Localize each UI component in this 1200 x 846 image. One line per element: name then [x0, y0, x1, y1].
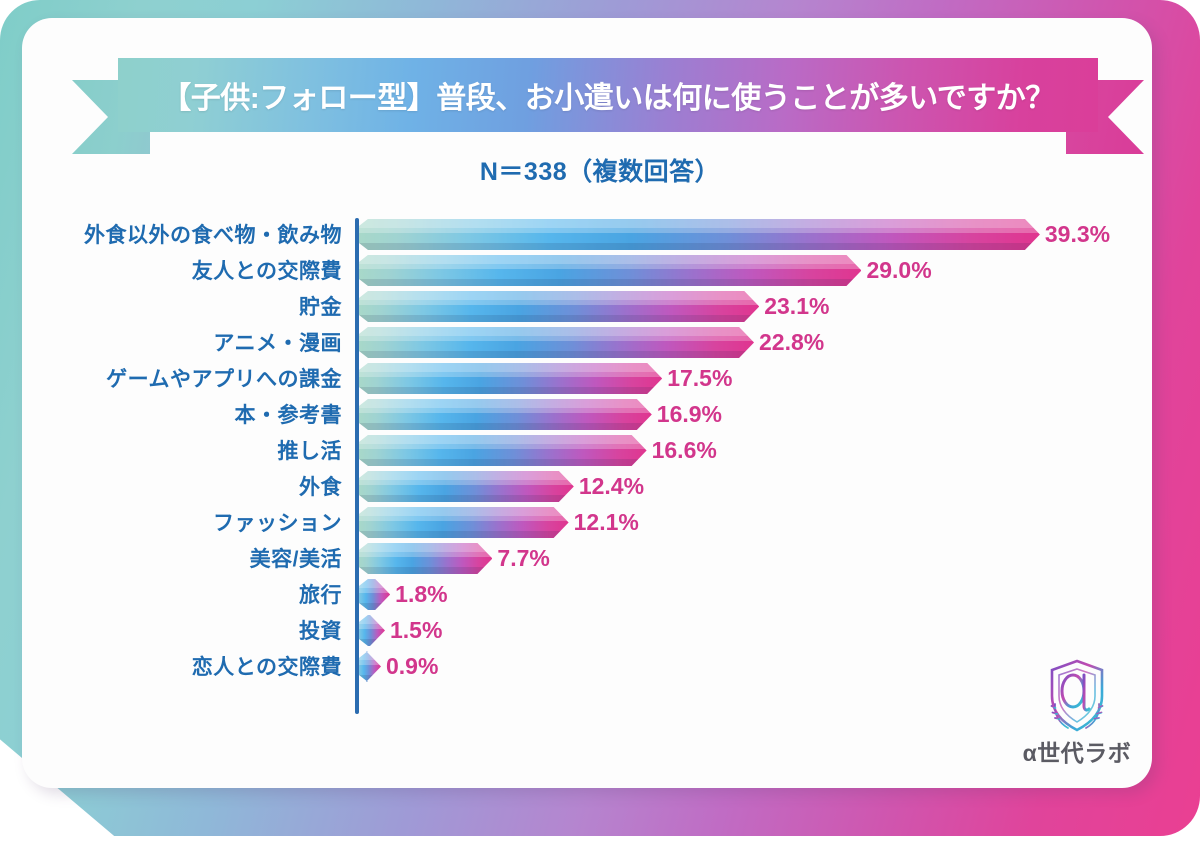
ribbon-band: 【子供:フォロー型】普段、お小遣いは何に使うことが多いですか？ [118, 58, 1098, 132]
brand-logo: α世代ラボ [1012, 656, 1142, 768]
category-label: 友人との交際費 [46, 252, 342, 288]
bar-sheen [359, 264, 861, 269]
value-label: 22.8% [759, 324, 824, 360]
bar-bottom-face [359, 531, 569, 538]
bar-row: ゲームやアプリへの課金17.5% [46, 360, 1156, 396]
value-label: 12.1% [574, 504, 639, 540]
bar-row: 美容/美活7.7% [46, 540, 1156, 576]
bar-bottom-face [359, 639, 385, 646]
category-label: アニメ・漫画 [46, 324, 342, 360]
alpha-shield-laurel-logo-icon [1038, 656, 1116, 736]
bar-bottom-face [359, 279, 861, 286]
value-label: 17.5% [667, 360, 732, 396]
value-label: 0.9% [386, 648, 438, 684]
bar [359, 399, 652, 430]
bar-sheen [359, 660, 381, 665]
bar [359, 219, 1040, 250]
bar-row: 外食以外の食べ物・飲み物39.3% [46, 216, 1156, 252]
bar-sheen [359, 516, 569, 521]
bar-row: アニメ・漫画22.8% [46, 324, 1156, 360]
bar-top-face [359, 615, 385, 624]
sample-size-note: N＝338（複数回答） [0, 152, 1200, 188]
bar-top-face [359, 651, 381, 660]
bar [359, 255, 861, 286]
bar-bottom-face [359, 387, 662, 394]
bar-top-face [359, 579, 390, 588]
brand-name: α世代ラボ [1012, 734, 1142, 768]
bar-bottom-face [359, 603, 390, 610]
bar-sheen [359, 336, 754, 341]
category-label: 貯金 [46, 288, 342, 324]
title-ribbon: 【子供:フォロー型】普段、お小遣いは何に使うことが多いですか？ [72, 58, 1144, 154]
bar-row: 本・参考書16.9% [46, 396, 1156, 432]
bar-bottom-face [359, 567, 492, 574]
bar-top-face [359, 219, 1040, 228]
bar [359, 543, 492, 574]
bar-row: 友人との交際費29.0% [46, 252, 1156, 288]
bar-sheen [359, 300, 759, 305]
bar-top-face [359, 255, 861, 264]
bar-sheen [359, 552, 492, 557]
bar-top-face [359, 543, 492, 552]
value-label: 7.7% [497, 540, 549, 576]
bar-top-face [359, 399, 652, 408]
bar-bottom-face [359, 495, 574, 502]
bar-sheen [359, 228, 1040, 233]
bar-top-face [359, 291, 759, 300]
value-label: 16.6% [652, 432, 717, 468]
bar-bottom-face [359, 315, 759, 322]
bar [359, 615, 385, 646]
bar-top-face [359, 435, 647, 444]
value-label: 1.5% [390, 612, 442, 648]
bar-sheen [359, 588, 390, 593]
category-label: ファッション [46, 504, 342, 540]
category-label: ゲームやアプリへの課金 [46, 360, 342, 396]
category-label: 旅行 [46, 576, 342, 612]
bar-bottom-face [359, 675, 381, 682]
bar [359, 363, 662, 394]
value-label: 29.0% [866, 252, 931, 288]
value-label: 39.3% [1045, 216, 1110, 252]
category-label: 恋人との交際費 [46, 648, 342, 684]
bar-row: 投資1.5% [46, 612, 1156, 648]
bar-sheen [359, 408, 652, 413]
bar-sheen [359, 624, 385, 629]
bar-row: 旅行1.8% [46, 576, 1156, 612]
bar [359, 327, 754, 358]
bar-sheen [359, 372, 662, 377]
category-label: 外食 [46, 468, 342, 504]
bar-bottom-face [359, 459, 647, 466]
bar-bottom-face [359, 351, 754, 358]
value-label: 12.4% [579, 468, 644, 504]
value-label: 23.1% [764, 288, 829, 324]
category-label: 外食以外の食べ物・飲み物 [46, 216, 342, 252]
bar-top-face [359, 327, 754, 336]
bar-row: 恋人との交際費0.9% [46, 648, 1156, 684]
category-label: 本・参考書 [46, 396, 342, 432]
category-label: 推し活 [46, 432, 342, 468]
bar-sheen [359, 480, 574, 485]
bar-row: 貯金23.1% [46, 288, 1156, 324]
value-label: 16.9% [657, 396, 722, 432]
bar-bottom-face [359, 423, 652, 430]
bar-top-face [359, 471, 574, 480]
bar-bottom-face [359, 243, 1040, 250]
bar [359, 579, 390, 610]
category-label: 美容/美活 [46, 540, 342, 576]
category-label: 投資 [46, 612, 342, 648]
bar [359, 291, 759, 322]
bar [359, 471, 574, 502]
bar [359, 651, 381, 682]
value-label: 1.8% [395, 576, 447, 612]
bar [359, 507, 569, 538]
bar-sheen [359, 444, 647, 449]
bar-top-face [359, 507, 569, 516]
page-title: 【子供:フォロー型】普段、お小遣いは何に使うことが多いですか？ [161, 73, 1055, 117]
bar-row: 推し活16.6% [46, 432, 1156, 468]
bar [359, 435, 647, 466]
bar-top-face [359, 363, 662, 372]
bar-row: 外食12.4% [46, 468, 1156, 504]
horizontal-bar-chart: 外食以外の食べ物・飲み物39.3%友人との交際費29.0%貯金23.1%アニメ・… [46, 216, 1156, 716]
bar-row: ファッション12.1% [46, 504, 1156, 540]
